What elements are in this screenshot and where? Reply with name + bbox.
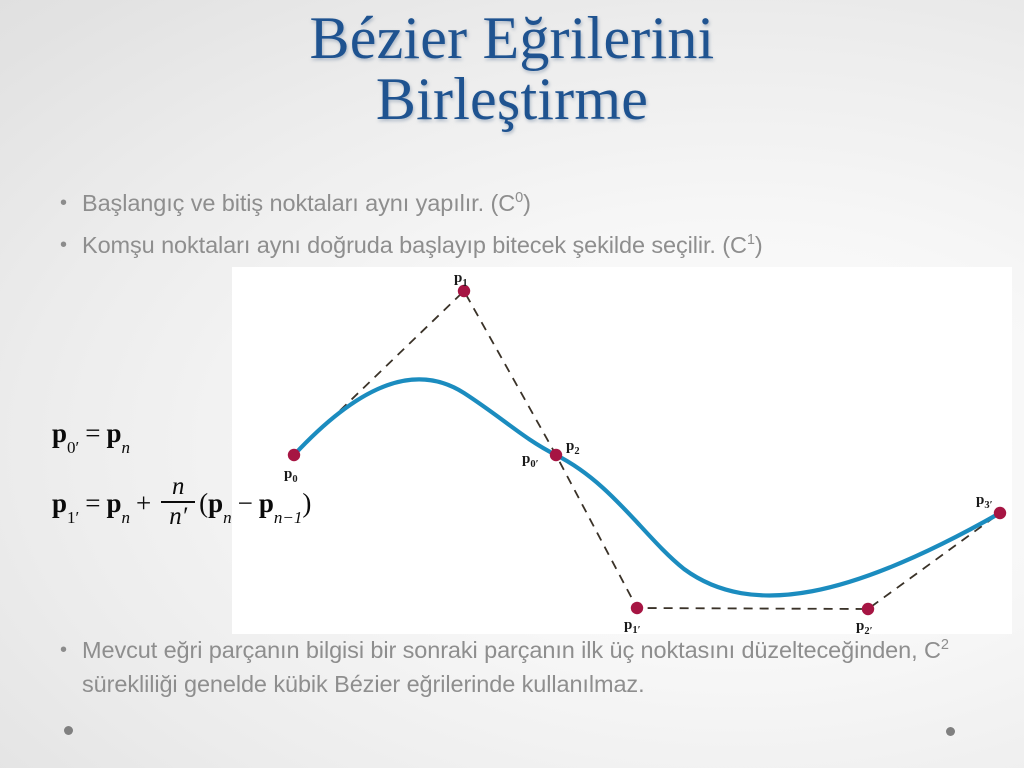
formula2-frac-denominator: n′ <box>161 503 195 530</box>
bullet-3-text-before: Mevcut eğri parçanın bilgisi bir sonraki… <box>82 637 941 663</box>
formula-p0prime: p0′ = pn <box>52 418 311 449</box>
bullet-2-superscript: 1 <box>747 232 755 248</box>
decorative-dot-left <box>64 726 73 735</box>
bezier-curve-segment-2 <box>556 455 1000 595</box>
slide-canvas: Bézier Eğrilerini Birleştirme • Başlangı… <box>0 0 1024 768</box>
formula2-minus: − <box>232 488 259 519</box>
decorative-dot-right <box>946 727 955 736</box>
control-point-label-group: p0p1p2p0′p1′p2′p3′ <box>284 270 993 634</box>
control-point-p3p <box>994 507 1006 519</box>
bullet-text-2: Komşu noktaları aynı doğruda başlayıp bi… <box>82 228 763 262</box>
control-point-p1p <box>631 602 643 614</box>
formula-p1prime: p1′ = pn + n n′ ( pn − pn−1 ) <box>52 475 311 531</box>
bullet-marker-icon: • <box>56 228 82 262</box>
control-point-p2 <box>550 449 562 461</box>
control-point-label-p2: p2 <box>566 438 580 457</box>
formula-block: p0′ = pn p1′ = pn + n n′ ( pn − pn−1 ) <box>52 418 311 531</box>
formula2-close-paren: ) <box>302 488 311 519</box>
bezier-figure-svg: p0p1p2p0′p1′p2′p3′ <box>232 267 1012 634</box>
formula1-equals: = <box>79 418 106 449</box>
bullet-item-3: • Mevcut eğri parçanın bilgisi bir sonra… <box>56 633 956 701</box>
bullet-marker-icon: • <box>56 186 82 220</box>
formula2-equals: = <box>79 488 106 519</box>
bullet-3-text-after: sürekliliği genelde kübik Bézier eğriler… <box>82 671 645 697</box>
formula2-lhs: p1′ <box>52 488 79 519</box>
bezier-figure-panel: p0p1p2p0′p1′p2′p3′ <box>232 267 1012 634</box>
formula2-open-paren: ( <box>199 488 208 519</box>
control-point-label-p3p: p3′ <box>976 492 993 511</box>
bullet-3-superscript: 2 <box>941 637 949 653</box>
bullet-2-text-before: Komşu noktaları aynı doğruda başlayıp bi… <box>82 232 747 258</box>
bezier-curve-segment-1 <box>294 379 556 455</box>
control-point-p2p <box>862 603 874 615</box>
formula1-lhs: p0′ <box>52 418 79 449</box>
formula2-fraction: n n′ <box>161 474 195 530</box>
formula1-rhs: pn <box>106 418 130 449</box>
control-point-label-p1p: p1′ <box>624 617 641 634</box>
formula2-term3: pn−1 <box>259 488 303 519</box>
control-point-label-p2p: p2′ <box>856 618 873 634</box>
bullet-marker-icon: • <box>56 633 82 667</box>
formula2-frac-numerator: n <box>164 474 192 501</box>
bullet-item-1: • Başlangıç ve bitiş noktaları aynı yapı… <box>56 186 956 220</box>
bullet-1-superscript: 0 <box>515 190 523 206</box>
bullet-1-text-before: Başlangıç ve bitiş noktaları aynı yapılı… <box>82 190 515 216</box>
formula2-term2: pn <box>208 488 232 519</box>
formula2-term1: pn <box>106 488 130 519</box>
bullet-item-2: • Komşu noktaları aynı doğruda başlayıp … <box>56 228 956 262</box>
bullet-text-3: Mevcut eğri parçanın bilgisi bir sonraki… <box>82 633 956 701</box>
bullet-1-text-after: ) <box>523 190 531 216</box>
control-point-label-p0p: p0′ <box>522 451 539 470</box>
page-title: Bézier Eğrilerini Birleştirme <box>60 8 964 130</box>
bullet-text-1: Başlangıç ve bitiş noktaları aynı yapılı… <box>82 186 531 220</box>
control-polygon-path <box>294 291 1000 609</box>
formula2-plus: + <box>130 488 157 519</box>
bullet-2-text-after: ) <box>755 232 763 258</box>
